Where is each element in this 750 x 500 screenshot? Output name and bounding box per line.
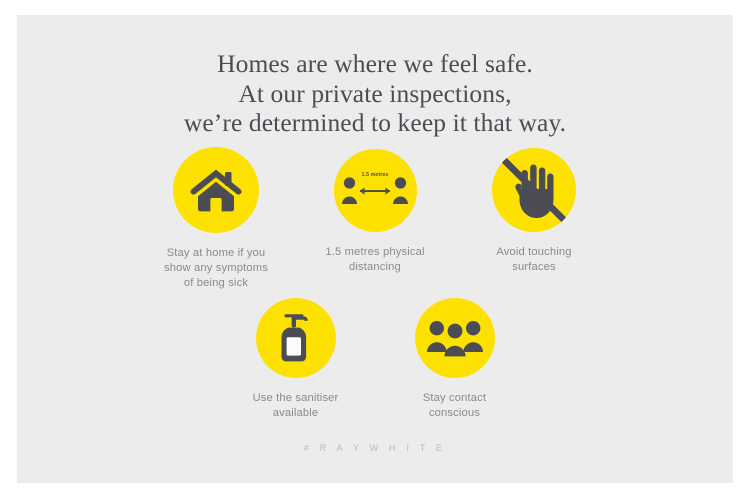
caption-line-2: show any symptoms (164, 261, 268, 276)
caption-line-2: conscious (423, 406, 486, 421)
no-touching-hand-icon-badge (492, 148, 576, 232)
tile-caption: Stay at home if you show any symptoms of… (164, 246, 268, 291)
caption-line-2: available (253, 406, 339, 421)
tile-physical-distancing: 1.5 metres 1.5 m (298, 147, 453, 291)
tile-contact-conscious: Stay contact conscious (377, 298, 532, 421)
tile-caption: Use the sanitiser available (253, 391, 339, 421)
tile-caption: 1.5 metres physical distancing (325, 245, 424, 275)
physical-distancing-icon-badge: 1.5 metres (334, 149, 417, 232)
caption-line-2: surfaces (496, 260, 571, 275)
house-icon (190, 167, 242, 213)
caption-line-1: 1.5 metres physical (325, 245, 424, 260)
poster-card: Homes are where we feel safe. At our pri… (17, 15, 733, 483)
tile-row-bottom: Use the sanitiser available (17, 298, 733, 421)
page-title: Homes are where we feel safe. At our pri… (17, 49, 733, 138)
tile-row-top: Stay at home if you show any symptoms of… (17, 147, 733, 291)
tile-caption: Avoid touching surfaces (496, 245, 571, 275)
sanitiser-bottle-icon-badge (256, 298, 336, 378)
sanitiser-bottle-icon (276, 312, 316, 364)
distancing-figures (341, 174, 409, 208)
caption-line-1: Stay at home if you (164, 246, 268, 261)
tile-avoid-touching: Avoid touching surfaces (457, 147, 612, 291)
caption-line-1: Stay contact (423, 391, 486, 406)
group-of-people-icon (427, 319, 483, 357)
tile-stay-at-home: Stay at home if you show any symptoms of… (139, 147, 294, 291)
caption-line-1: Avoid touching (496, 245, 571, 260)
tile-use-sanitiser: Use the sanitiser available (218, 298, 373, 421)
group-of-people-icon-badge (415, 298, 495, 378)
tile-caption: Stay contact conscious (423, 391, 486, 421)
caption-line-1: Use the sanitiser (253, 391, 339, 406)
brand-hashtag: # R A Y W H I T E (17, 443, 733, 453)
headline-line-2: At our private inspections, (17, 79, 733, 109)
house-icon-badge (173, 147, 259, 233)
headline-line-1: Homes are where we feel safe. (17, 49, 733, 79)
caption-line-2: distancing (325, 260, 424, 275)
headline-line-3: we’re determined to keep it that way. (17, 108, 733, 138)
physical-distancing-icon: 1.5 metres (341, 174, 409, 208)
caption-line-3: of being sick (164, 276, 268, 291)
no-touching-hand-icon (492, 148, 576, 232)
